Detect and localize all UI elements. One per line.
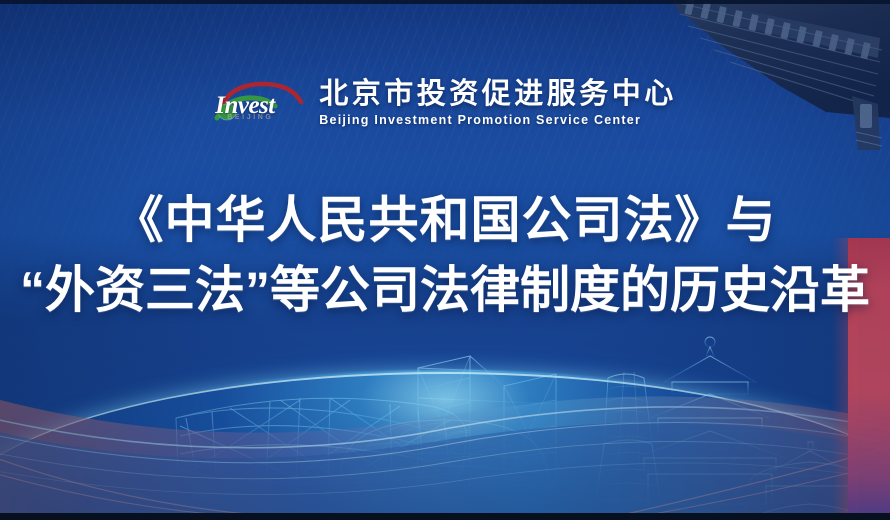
- title-slide: Invest BEIJING 北京市投资促进服务中心 Beijing Inves…: [0, 0, 890, 520]
- logo-sub-wordmark: BEIJING: [227, 114, 273, 121]
- bottom-edge-strip: [0, 513, 890, 520]
- organization-name-block: 北京市投资促进服务中心 Beijing Investment Promotion…: [319, 79, 677, 127]
- accent-red-band: [848, 238, 890, 520]
- organization-header: Invest BEIJING 北京市投资促进服务中心 Beijing Inves…: [0, 72, 890, 134]
- organization-name-cn: 北京市投资促进服务中心: [319, 79, 677, 110]
- invest-beijing-logo: Invest BEIJING: [213, 78, 305, 128]
- organization-name-en: Beijing Investment Promotion Service Cen…: [319, 113, 677, 127]
- top-edge-strip: [0, 0, 890, 4]
